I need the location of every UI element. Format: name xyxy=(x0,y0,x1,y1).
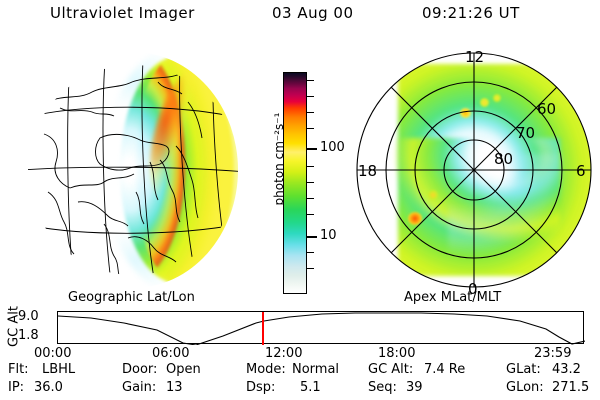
colorbar-gradient xyxy=(283,72,307,294)
status-seq-label: Seq: xyxy=(368,380,397,395)
header-bar: Ultraviolet Imager 03 Aug 00 09:21:26 UT xyxy=(0,4,600,30)
colorbar-tick xyxy=(307,268,314,269)
mlat-label-60: 60 xyxy=(537,100,556,118)
mlat-label-70: 70 xyxy=(516,124,535,142)
colorbar-tick xyxy=(307,112,314,113)
status-seq-value: 39 xyxy=(406,380,423,395)
status-glon-value: 271.5 xyxy=(552,380,589,395)
status-mode-value: Normal xyxy=(292,362,339,377)
status-mode-label: Mode: xyxy=(246,362,286,377)
colorbar-tick-major-100 xyxy=(307,148,317,150)
status-door-label: Door: xyxy=(122,362,157,377)
orbit-y-tick-min: 1.8 xyxy=(18,328,39,343)
mlt-label-12: 12 xyxy=(465,48,484,66)
orbit-track-curve xyxy=(58,312,585,345)
mlt-label-18: 18 xyxy=(358,162,377,180)
colorbar-tick xyxy=(307,96,314,97)
status-ip-value: 36.0 xyxy=(34,380,63,395)
colorbar-tick-major-10 xyxy=(307,236,317,238)
colorbar-tick xyxy=(307,252,314,253)
status-glon-label: GLon: xyxy=(506,380,544,395)
status-glat-value: 43.2 xyxy=(552,362,581,377)
colorbar-tick xyxy=(307,166,314,167)
geographic-panel-caption: Geographic Lat/Lon xyxy=(68,290,195,305)
status-bar: Flt: LBHL Door: Open Mode: Normal GC Alt… xyxy=(0,360,600,400)
colorbar-tick xyxy=(307,80,314,81)
colorbar-tick xyxy=(307,214,314,215)
mlt-label-6: 6 xyxy=(576,162,586,180)
orbit-x-tick-0: 00:00 xyxy=(34,346,71,361)
status-door-value: Open xyxy=(166,362,201,377)
mlat-label-80: 80 xyxy=(494,150,513,168)
orbit-x-tick-4: 23:59 xyxy=(534,346,571,361)
instrument-title: Ultraviolet Imager xyxy=(50,4,195,22)
observation-date: 03 Aug 00 xyxy=(272,4,354,22)
status-gcalt-label: GC Alt: xyxy=(368,362,413,377)
colorbar-panel: photon cm⁻²s⁻¹ 100 10 xyxy=(258,56,358,296)
orbit-y-axis-label: GC Alt xyxy=(7,299,22,355)
status-ip-label: IP: xyxy=(8,380,24,395)
geographic-graticule-overlay xyxy=(8,42,258,298)
geographic-image-panel[interactable] xyxy=(8,42,258,298)
status-flt-value: LBHL xyxy=(42,362,75,377)
status-gain-value: 13 xyxy=(166,380,183,395)
status-gcalt-value: 7.4 Re xyxy=(424,362,465,377)
colorbar-tick xyxy=(307,198,314,199)
orbit-x-tick-3: 18:00 xyxy=(378,346,415,361)
current-time-marker xyxy=(262,312,264,345)
colorbar-tick xyxy=(307,128,314,129)
status-flt-label: Flt: xyxy=(8,362,29,377)
status-gain-label: Gain: xyxy=(122,380,156,395)
status-dsp-value: 5.1 xyxy=(300,380,321,395)
orbit-altitude-plot[interactable]: GC Alt 9.0 1.8 00:00 06:00 12:00 18:00 2… xyxy=(0,305,600,357)
orbit-x-tick-1: 06:00 xyxy=(152,346,189,361)
orbit-y-tick-max: 9.0 xyxy=(18,309,39,324)
colorbar-label-100: 100 xyxy=(320,140,345,155)
status-dsp-label: Dsp: xyxy=(246,380,275,395)
apex-panel-caption: Apex MLat/MLT xyxy=(404,290,501,305)
status-glat-label: GLat: xyxy=(506,362,541,377)
orbit-x-tick-2: 12:00 xyxy=(265,346,302,361)
apex-polar-plot-panel[interactable]: 12 18 6 0 60 70 80 xyxy=(352,42,596,298)
colorbar-label-10: 10 xyxy=(320,228,337,243)
observation-time: 09:21:26 UT xyxy=(422,4,520,22)
polar-grid-overlay: 12 18 6 0 60 70 80 xyxy=(352,42,596,298)
orbit-plot-area[interactable] xyxy=(57,311,584,344)
colorbar-tick xyxy=(307,182,314,183)
